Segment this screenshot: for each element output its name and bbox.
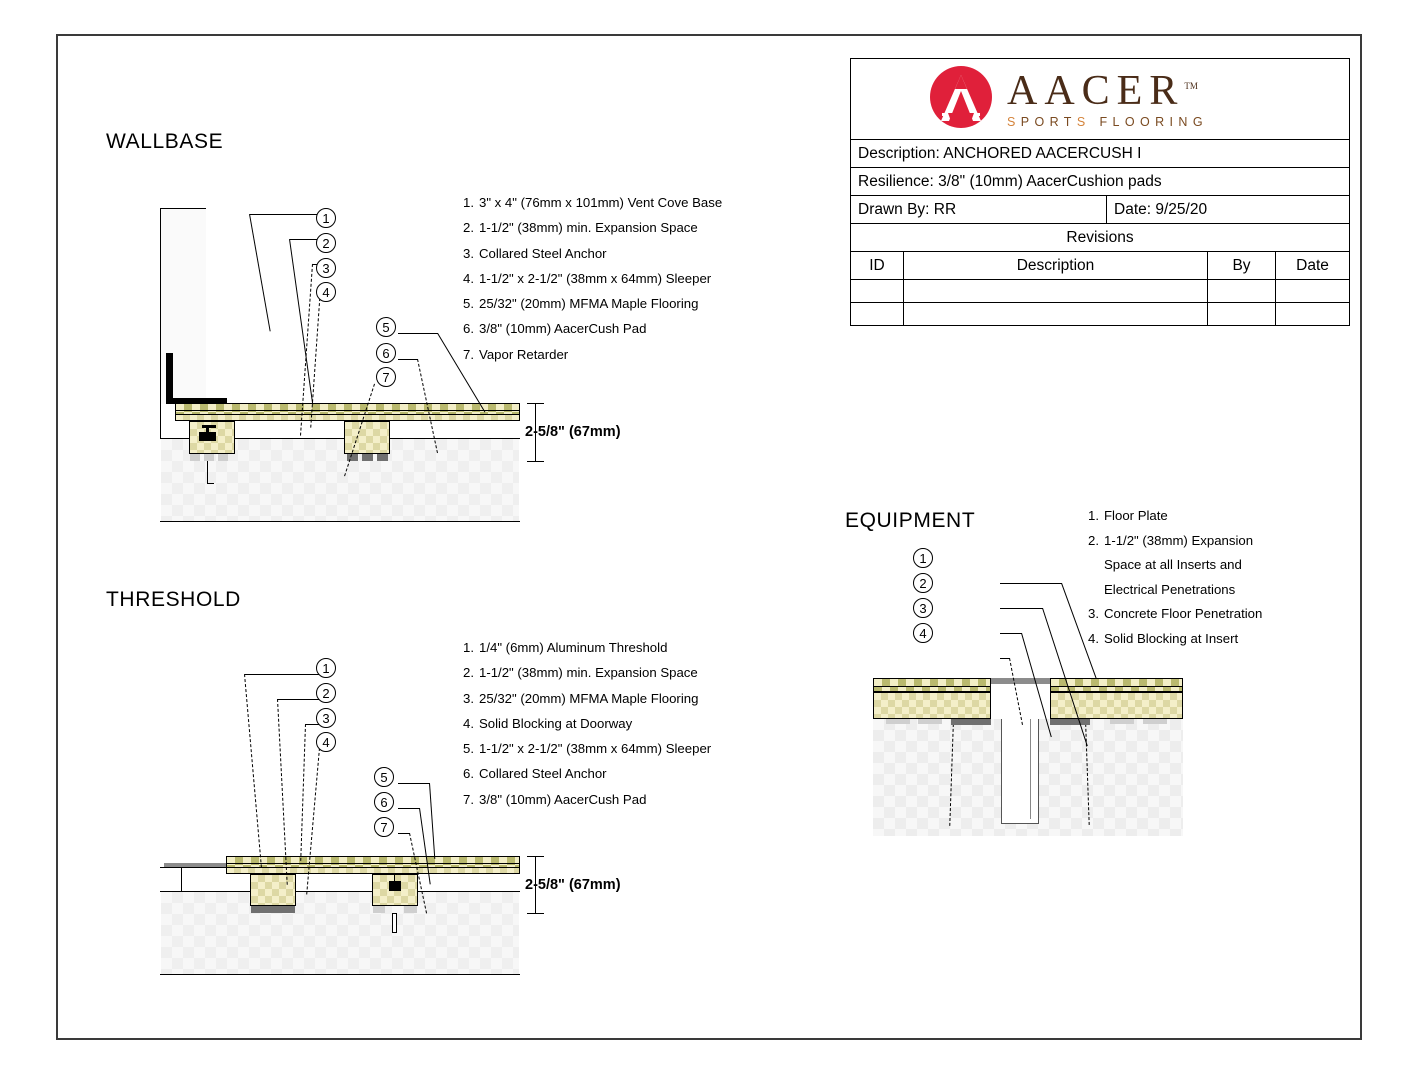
revisions-header-id: ID bbox=[851, 252, 903, 279]
maple-flooring-layer bbox=[226, 856, 520, 868]
callout-bubble-6[interactable]: 6 bbox=[376, 343, 396, 363]
leader-line-6 bbox=[398, 359, 418, 360]
drawing-sheet: AACERTM SPORTS FLOORING Description: ANC… bbox=[56, 34, 1362, 1040]
threshold-dimension-text: 2-5/8" (67mm) bbox=[525, 877, 621, 893]
anchor-embed-line bbox=[207, 483, 214, 484]
revisions-header-row: ID Description By Date bbox=[851, 252, 1349, 280]
aacercush-pad bbox=[373, 906, 385, 913]
penetration-wall-line bbox=[1038, 719, 1039, 824]
threshold-section-title: THRESHOLD bbox=[106, 588, 241, 612]
date-text: Date: 9/25/20 bbox=[1106, 196, 1349, 223]
aacercush-pad bbox=[1143, 719, 1167, 724]
dimension-tick bbox=[527, 403, 544, 404]
leader-line-4 bbox=[1009, 658, 1023, 725]
revision-id-cell[interactable] bbox=[851, 303, 903, 325]
description-text: Description: ANCHORED AACERCUSH I bbox=[851, 140, 1349, 167]
leader-line-2 bbox=[289, 239, 313, 405]
revisions-header-description: Description bbox=[903, 252, 1207, 279]
callout-bubble-2[interactable]: 2 bbox=[316, 233, 336, 253]
callout-bubble-5[interactable]: 5 bbox=[374, 767, 394, 787]
wallbase-dimension-text: 2-5/8" (67mm) bbox=[525, 424, 621, 440]
callout-bubble-1[interactable]: 1 bbox=[913, 548, 933, 568]
callout-bubble-6[interactable]: 6 bbox=[374, 792, 394, 812]
title-block-description-row: Description: ANCHORED AACERCUSH I bbox=[851, 140, 1349, 168]
revision-description-cell[interactable] bbox=[903, 303, 1207, 325]
leader-line-6 bbox=[398, 808, 420, 809]
aacercush-pad bbox=[218, 454, 228, 461]
steel-anchor-head bbox=[394, 874, 395, 883]
penetration-inner-line bbox=[1030, 719, 1031, 819]
callout-bubble-4[interactable]: 4 bbox=[316, 282, 336, 302]
aacercush-pad bbox=[362, 454, 373, 461]
revisions-header-by: By bbox=[1207, 252, 1275, 279]
sleeper-right bbox=[344, 421, 390, 454]
leader-line-2 bbox=[1000, 608, 1043, 609]
solid-blocking-at-insert bbox=[951, 719, 991, 725]
leader-line-5 bbox=[398, 783, 430, 784]
revision-date-cell[interactable] bbox=[1275, 280, 1349, 302]
resilience-text: Resilience: 3/8" (10mm) AacerCushion pad… bbox=[851, 168, 1349, 195]
revision-by-cell[interactable] bbox=[1207, 280, 1275, 302]
leader-line-5 bbox=[437, 333, 485, 412]
revisions-row[interactable] bbox=[851, 280, 1349, 303]
leader-line-1 bbox=[1061, 583, 1096, 678]
leader-line-5 bbox=[429, 783, 435, 859]
revisions-title: Revisions bbox=[851, 224, 1349, 251]
callout-bubble-4[interactable]: 4 bbox=[913, 623, 933, 643]
flooring-joint-line bbox=[873, 686, 991, 687]
wallbase-section-title: WALLBASE bbox=[106, 130, 223, 154]
revision-id-cell[interactable] bbox=[851, 280, 903, 302]
aacercush-pad bbox=[1110, 719, 1134, 724]
leader-line-1 bbox=[244, 674, 262, 867]
callout-bubble-1[interactable]: 1 bbox=[316, 208, 336, 228]
slab-bottom-line bbox=[160, 974, 520, 975]
aacercush-pad bbox=[886, 719, 910, 724]
dimension-tick bbox=[527, 461, 544, 462]
dimension-tick bbox=[527, 913, 544, 914]
logo-tagline: SPORTS FLOORING bbox=[1007, 115, 1208, 129]
logo-brand-text: AACER bbox=[1007, 68, 1184, 114]
aacercush-pad bbox=[404, 906, 417, 913]
revision-date-cell[interactable] bbox=[1275, 303, 1349, 325]
maple-flooring-layer bbox=[175, 403, 520, 415]
doorway-edge-line bbox=[181, 867, 182, 892]
anchor-embed-shaft bbox=[392, 913, 397, 933]
logo-wordmark: AACERTM bbox=[1007, 65, 1208, 112]
callout-bubble-2[interactable]: 2 bbox=[316, 683, 336, 703]
penetration-bottom-line bbox=[1001, 823, 1039, 824]
revision-description-cell[interactable] bbox=[903, 280, 1207, 302]
title-block-drawn-date-row: Drawn By: RR Date: 9/25/20 bbox=[851, 196, 1349, 224]
solid-blocking-doorway bbox=[250, 874, 296, 906]
equipment-drawing bbox=[838, 506, 1198, 846]
callout-bubble-5[interactable]: 5 bbox=[376, 317, 396, 337]
maple-flooring-layer bbox=[1050, 678, 1183, 692]
flooring-joint-line bbox=[175, 410, 520, 411]
flooring-joint-line bbox=[226, 863, 520, 864]
callout-bubble-1[interactable]: 1 bbox=[316, 658, 336, 678]
aacercush-pad-block bbox=[251, 906, 295, 913]
concrete-slab bbox=[161, 892, 519, 974]
revisions-row[interactable] bbox=[851, 303, 1349, 325]
callout-bubble-3[interactable]: 3 bbox=[316, 708, 336, 728]
steel-anchor-collar bbox=[199, 432, 216, 441]
aacercush-pad bbox=[204, 454, 214, 461]
callout-bubble-4[interactable]: 4 bbox=[316, 732, 336, 752]
steel-anchor-head bbox=[202, 425, 216, 428]
callout-bubble-2[interactable]: 2 bbox=[913, 573, 933, 593]
steel-anchor-collar bbox=[389, 881, 401, 891]
leader-line-3 bbox=[1000, 633, 1022, 634]
revision-by-cell[interactable] bbox=[1207, 303, 1275, 325]
penetration-wall-line bbox=[1001, 719, 1002, 824]
leader-line-5 bbox=[398, 333, 438, 334]
callout-bubble-3[interactable]: 3 bbox=[316, 258, 336, 278]
flooring-joint-line bbox=[1050, 686, 1183, 687]
callout-bubble-7[interactable]: 7 bbox=[376, 367, 396, 387]
revisions-header-date: Date bbox=[1275, 252, 1349, 279]
aacercush-pad bbox=[918, 719, 942, 724]
title-block-resilience-row: Resilience: 3/8" (10mm) AacerCushion pad… bbox=[851, 168, 1349, 196]
leader-line-1 bbox=[249, 214, 271, 331]
aacercush-pad bbox=[190, 454, 200, 461]
aacercush-pad bbox=[377, 454, 388, 461]
leader-line-3 bbox=[300, 724, 306, 861]
wallbase-drawing bbox=[98, 176, 518, 516]
drawn-by-text: Drawn By: RR bbox=[851, 196, 1106, 223]
aacer-logo-mark bbox=[929, 65, 993, 129]
dimension-tick bbox=[527, 856, 544, 857]
revisions-title-row: Revisions bbox=[851, 224, 1349, 252]
solid-blocking-at-insert bbox=[1050, 719, 1090, 725]
callout-bubble-7[interactable]: 7 bbox=[374, 817, 394, 837]
vent-cove-base-vertical bbox=[166, 353, 173, 404]
maple-flooring-layer bbox=[873, 678, 991, 692]
anchor-embed-line bbox=[207, 461, 208, 483]
logo-trademark: TM bbox=[1184, 81, 1198, 91]
leader-line-1 bbox=[1000, 583, 1062, 584]
threshold-drawing bbox=[98, 626, 518, 976]
slab-bottom-line bbox=[160, 521, 520, 522]
title-block: AACERTM SPORTS FLOORING Description: ANC… bbox=[850, 58, 1350, 326]
concrete-floor-penetration bbox=[1001, 719, 1039, 823]
company-logo: AACERTM SPORTS FLOORING bbox=[851, 59, 1349, 140]
callout-bubble-3[interactable]: 3 bbox=[913, 598, 933, 618]
sleeper-left bbox=[873, 692, 991, 719]
